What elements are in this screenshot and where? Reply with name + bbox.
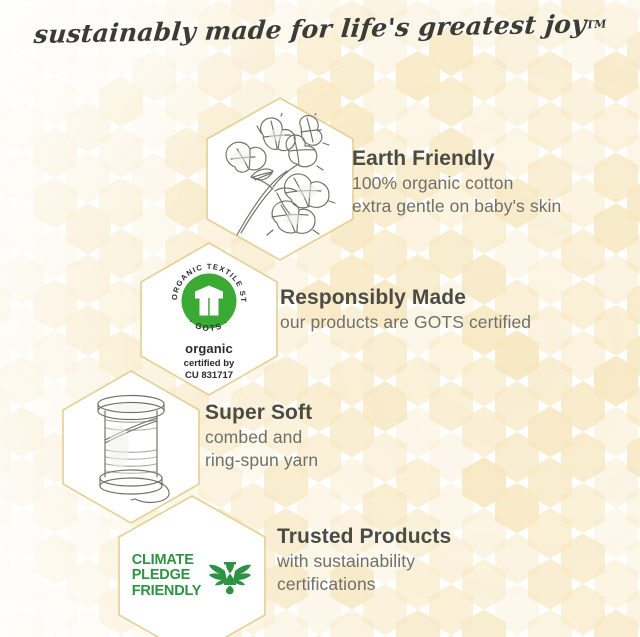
honeycomb-cell [528,406,572,457]
honeycomb-cell [429,381,473,432]
headline: sustainably made for life's greatest joy… [0,20,640,49]
honeycomb-cell [462,559,506,610]
honeycomb-cell [495,330,539,381]
honeycomb-cell [0,406,44,457]
honeycomb-cell [132,51,176,102]
honeycomb-cell [528,559,572,610]
honeycomb-cell [0,508,44,559]
honeycomb-cell [396,102,440,153]
feature-text-earth-friendly: Earth Friendly 100% organic cotton extra… [352,146,561,218]
honeycomb-cell [0,178,11,229]
honeycomb-cell [330,406,374,457]
honeycomb-cell [462,457,506,508]
honeycomb-cell [99,279,143,330]
honeycomb-cell [330,356,374,407]
honeycomb-cell [396,610,440,637]
honeycomb-cell [528,610,572,637]
feature-line: ring-spun yarn [205,449,318,472]
honeycomb-cell [594,406,638,457]
honeycomb-cell [132,102,176,153]
honeycomb-cell [0,51,44,102]
honeycomb-cell [627,483,640,534]
feature-hex-earth-friendly [204,96,356,262]
feature-title: Responsibly Made [280,285,531,311]
honeycomb-cell [66,559,110,610]
honeycomb-cell [594,203,638,254]
honeycomb-cell [561,432,605,483]
honeycomb-cell [495,533,539,584]
honeycomb-cell [627,178,640,229]
honeycomb-cell [594,305,638,356]
honeycomb-cell [594,356,638,407]
honeycomb-cell [66,203,110,254]
honeycomb-cell [99,178,143,229]
honeycomb-cell [627,279,640,330]
honeycomb-cell [396,356,440,407]
climate-pledge-wordmark: CLIMATE PLEDGE FRIENDLY [132,553,202,599]
infographic-canvas: sustainably made for life's greatest joy… [0,0,640,637]
honeycomb-cell [528,457,572,508]
climate-pledge-friendly-icon: CLIMATE PLEDGE FRIENDLY [132,553,253,599]
honeycomb-cell [627,229,640,280]
honeycomb-cell [561,76,605,127]
honeycomb-cell [363,381,407,432]
feature-text-trusted-products: Trusted Products with sustainability cer… [277,524,451,596]
honeycomb-cell [99,76,143,127]
trademark-symbol: TM [586,17,607,31]
gots-certified-by-text: certified by [184,358,235,369]
winged-hourglass-icon [208,557,252,595]
honeycomb-cell [561,229,605,280]
honeycomb-cell [0,457,44,508]
honeycomb-cell [495,381,539,432]
honeycomb-cell [462,51,506,102]
honeycomb-cell [165,76,209,127]
honeycomb-cell [33,229,77,280]
honeycomb-cell [528,254,572,305]
honeycomb-cell [561,533,605,584]
honeycomb-cell [561,584,605,635]
honeycomb-cell [528,356,572,407]
honeycomb-cell [66,305,110,356]
honeycomb-cell [66,51,110,102]
honeycomb-cell [0,483,11,534]
honeycomb-cell [594,457,638,508]
honeycomb-cell [33,127,77,178]
honeycomb-cell [33,76,77,127]
honeycomb-cell [0,152,44,203]
honeycomb-cell [0,254,44,305]
honeycomb-cell [627,584,640,635]
honeycomb-cell [33,178,77,229]
feature-hex-trusted-products: CLIMATE PLEDGE FRIENDLY [116,494,268,637]
thread-spool-icon [79,387,183,507]
gots-certification-icon: GLOBAL ORGANIC TEXTILE STANDARD · GOTS ·… [157,257,261,369]
honeycomb-cell [0,305,44,356]
honeycomb-cell [0,533,11,584]
honeycomb-cell [396,457,440,508]
honeycomb-cell [561,178,605,229]
honeycomb-cell [561,381,605,432]
feature-title: Super Soft [205,400,318,426]
honeycomb-cell [429,229,473,280]
honeycomb-cell [66,152,110,203]
honeycomb-cell [0,229,11,280]
honeycomb-cell [33,533,77,584]
honeycomb-cell [99,229,143,280]
headline-text: sustainably made for life's greatest joy [33,9,588,49]
honeycomb-cell [132,152,176,203]
honeycomb-cell [165,127,209,178]
honeycomb-cell [495,584,539,635]
honeycomb-cell [33,584,77,635]
honeycomb-cell [0,432,11,483]
honeycomb-cell [66,102,110,153]
honeycomb-cell [528,508,572,559]
honeycomb-cell [396,51,440,102]
honeycomb-cell [330,51,374,102]
feature-line: combed and [205,426,318,449]
honeycomb-cell [462,406,506,457]
honeycomb-cell [165,178,209,229]
honeycomb-cell [627,533,640,584]
honeycomb-cell [0,76,11,127]
honeycomb-cell [594,102,638,153]
honeycomb-cell [561,279,605,330]
honeycomb-cell [0,559,44,610]
feature-text-super-soft: Super Soft combed and ring-spun yarn [205,400,318,472]
pledge-line: PLEDGE [132,568,202,583]
honeycomb-cell [462,508,506,559]
honeycomb-cell [198,51,242,102]
honeycomb-cell [264,51,308,102]
honeycomb-cell [462,102,506,153]
honeycomb-cell [0,381,11,432]
honeycomb-cell [627,381,640,432]
honeycomb-cell [561,127,605,178]
honeycomb-cell [429,76,473,127]
honeycomb-cell [528,305,572,356]
honeycomb-cell [627,330,640,381]
honeycomb-cell [429,432,473,483]
honeycomb-cell [462,356,506,407]
honeycomb-cell [627,76,640,127]
friendly-line: FRIENDLY [132,584,202,599]
honeycomb-cell [0,203,44,254]
honeycomb-cell [0,610,44,637]
honeycomb-cell [330,610,374,637]
honeycomb-cell [396,406,440,457]
honeycomb-cell [0,127,11,178]
honeycomb-cell [528,102,572,153]
honeycomb-cell [495,229,539,280]
honeycomb-cell [462,610,506,637]
honeycomb-cell [0,279,11,330]
feature-title: Earth Friendly [352,146,561,172]
honeycomb-cell [0,102,44,153]
feature-line: our products are GOTS certified [280,311,531,334]
honeycomb-cell [561,483,605,534]
honeycomb-cell [330,457,374,508]
honeycomb-cell [66,254,110,305]
feature-line: with sustainability [277,550,451,573]
honeycomb-cell [363,330,407,381]
feature-line: 100% organic cotton [352,172,561,195]
honeycomb-cell [363,229,407,280]
feature-text-responsibly-made: Responsibly Made our products are GOTS c… [280,285,531,334]
honeycomb-cell [495,76,539,127]
feature-line: extra gentle on baby's skin [352,195,561,218]
honeycomb-cell [594,51,638,102]
honeycomb-cell [594,559,638,610]
honeycomb-cell [0,584,11,635]
honeycomb-cell [429,330,473,381]
honeycomb-cell [594,610,638,637]
honeycomb-cell [0,330,11,381]
honeycomb-cell [0,356,44,407]
honeycomb-cell [363,432,407,483]
climate-line: CLIMATE [132,553,202,568]
honeycomb-cell [594,152,638,203]
honeycomb-cell [528,51,572,102]
feature-line: certifications [277,573,451,596]
honeycomb-cell [594,254,638,305]
honeycomb-cell [594,508,638,559]
honeycomb-cell [495,432,539,483]
honeycomb-cell [264,610,308,637]
honeycomb-cell [297,330,341,381]
cotton-branch-icon [217,113,343,245]
honeycomb-cell [627,127,640,178]
honeycomb-cell [363,76,407,127]
honeycomb-cell [33,279,77,330]
feature-title: Trusted Products [277,524,451,550]
honeycomb-cell [99,127,143,178]
honeycomb-cell [627,432,640,483]
honeycomb-cell [495,483,539,534]
honeycomb-cell [66,610,110,637]
honeycomb-cell [561,330,605,381]
